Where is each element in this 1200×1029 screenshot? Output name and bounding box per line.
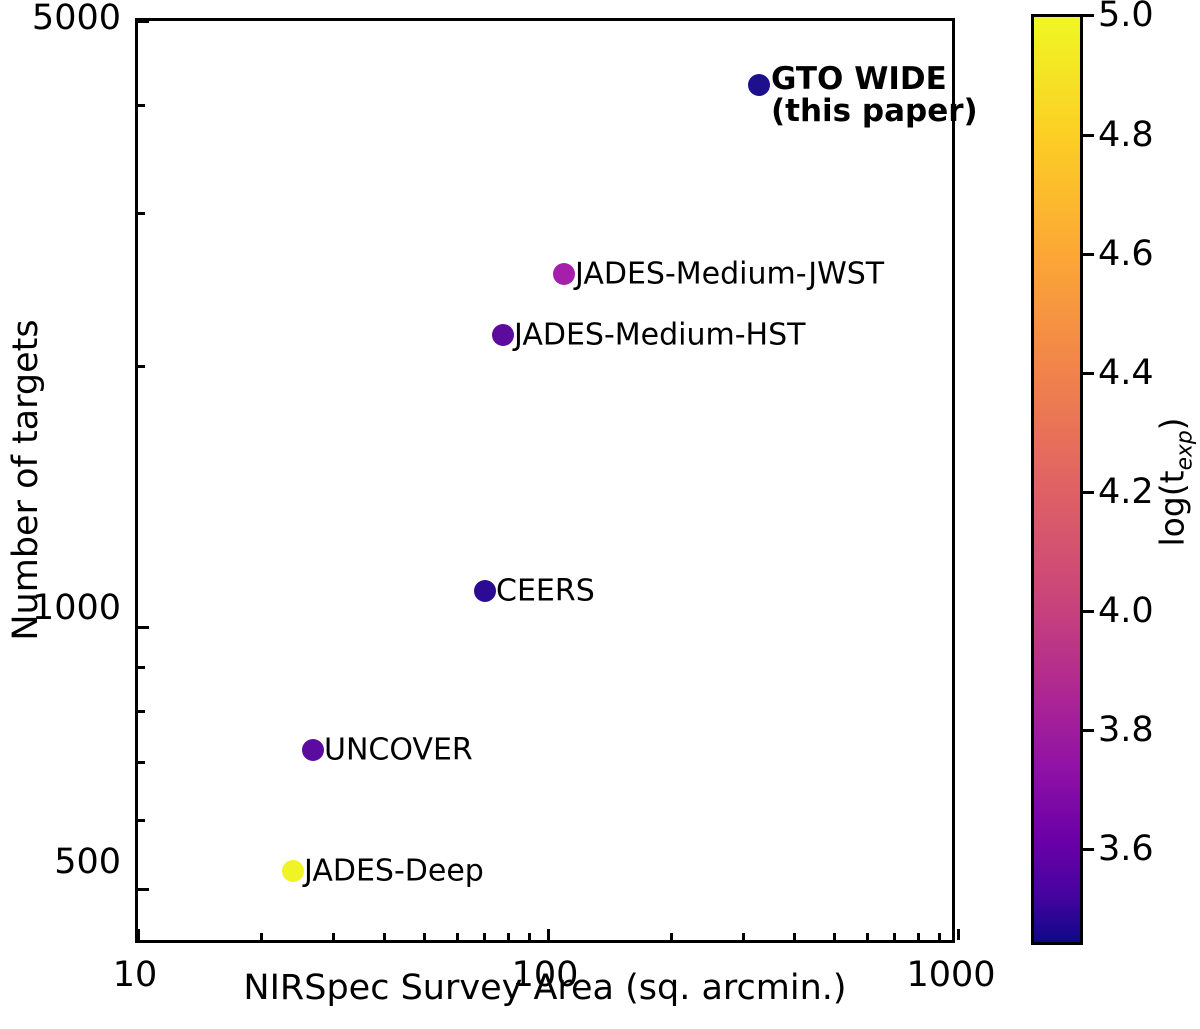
x-tick-minor [866, 933, 869, 940]
y-tick-minor [138, 888, 145, 891]
x-tick-minor [742, 933, 745, 940]
x-tick-major [957, 929, 960, 940]
data-point-label: UNCOVER [324, 734, 473, 765]
y-tick-major [138, 20, 149, 23]
data-point-marker[interactable] [748, 74, 770, 96]
x-tick-minor [483, 933, 486, 940]
colorbar-tick-label: 4.0 [1098, 591, 1154, 631]
data-point-marker[interactable] [474, 580, 496, 602]
x-axis-title: NIRSpec Survey Area (sq. arcmin.) [243, 968, 846, 1008]
x-tick-minor [332, 933, 335, 940]
colorbar-title-prefix: log(t [1153, 470, 1192, 546]
colorbar-gradient [1031, 14, 1083, 945]
x-tick-minor [793, 933, 796, 940]
colorbar-tick-label: 3.8 [1098, 710, 1154, 750]
colorbar-tick [1083, 610, 1094, 613]
colorbar [1031, 14, 1083, 945]
colorbar-tick-label: 4.6 [1098, 234, 1154, 274]
y-tick-minor [138, 761, 145, 764]
colorbar-tick [1083, 253, 1094, 256]
colorbar-tick [1083, 491, 1094, 494]
x-tick-minor [670, 933, 673, 940]
colorbar-title-subscript: exp [1172, 430, 1197, 470]
y-tick-minor [138, 819, 145, 822]
colorbar-tick [1083, 848, 1094, 851]
y-tick-minor [138, 365, 145, 368]
data-point-marker[interactable] [553, 263, 575, 285]
y-tick-minor [138, 104, 145, 107]
x-tick-minor [507, 933, 510, 940]
x-tick-label: 10 [113, 955, 158, 995]
x-tick-major [547, 929, 550, 940]
x-tick-minor [938, 933, 941, 940]
x-tick-minor [893, 933, 896, 940]
x-tick-major [137, 929, 140, 940]
data-point-label: JADES-Medium-HST [514, 319, 805, 350]
x-tick-minor [260, 933, 263, 940]
data-point-marker[interactable] [282, 860, 304, 882]
colorbar-tick-label: 3.6 [1098, 829, 1154, 869]
y-axis-title: Number of targets [6, 319, 46, 640]
colorbar-tick-label: 4.8 [1098, 115, 1154, 155]
x-tick-minor [383, 933, 386, 940]
x-tick-minor [833, 933, 836, 940]
colorbar-tick [1083, 134, 1094, 137]
colorbar-title-suffix: ) [1153, 417, 1192, 430]
data-point-label: JADES-Deep [304, 855, 484, 886]
colorbar-tick [1083, 14, 1094, 17]
figure-canvas: GTO WIDE (this paper)JADES-Medium-JWSTJA… [0, 0, 1200, 1029]
data-point-marker[interactable] [492, 324, 514, 346]
y-tick-minor [138, 710, 145, 713]
y-tick-minor [138, 212, 145, 215]
colorbar-tick-label: 4.2 [1098, 472, 1154, 512]
data-point-marker[interactable] [302, 739, 324, 761]
x-tick-minor [423, 933, 426, 940]
plot-axes: GTO WIDE (this paper)JADES-Medium-JWSTJA… [135, 18, 955, 943]
colorbar-tick [1083, 372, 1094, 375]
x-tick-minor [917, 933, 920, 940]
y-tick-label: 500 [54, 842, 121, 882]
data-point-label: JADES-Medium-JWST [575, 258, 884, 289]
x-tick-minor [528, 933, 531, 940]
x-tick-minor [456, 933, 459, 940]
colorbar-title: log(texp) [1153, 417, 1198, 546]
colorbar-tick-label: 5.0 [1098, 0, 1154, 35]
data-point-label: CEERS [496, 575, 595, 606]
x-tick-label: 1000 [906, 955, 995, 995]
data-point-label: GTO WIDE (this paper) [771, 63, 978, 127]
colorbar-tick-label: 4.4 [1098, 353, 1154, 393]
y-tick-minor [138, 666, 145, 669]
colorbar-tick [1083, 729, 1094, 732]
y-tick-label: 5000 [32, 0, 121, 38]
y-tick-major [138, 626, 149, 629]
